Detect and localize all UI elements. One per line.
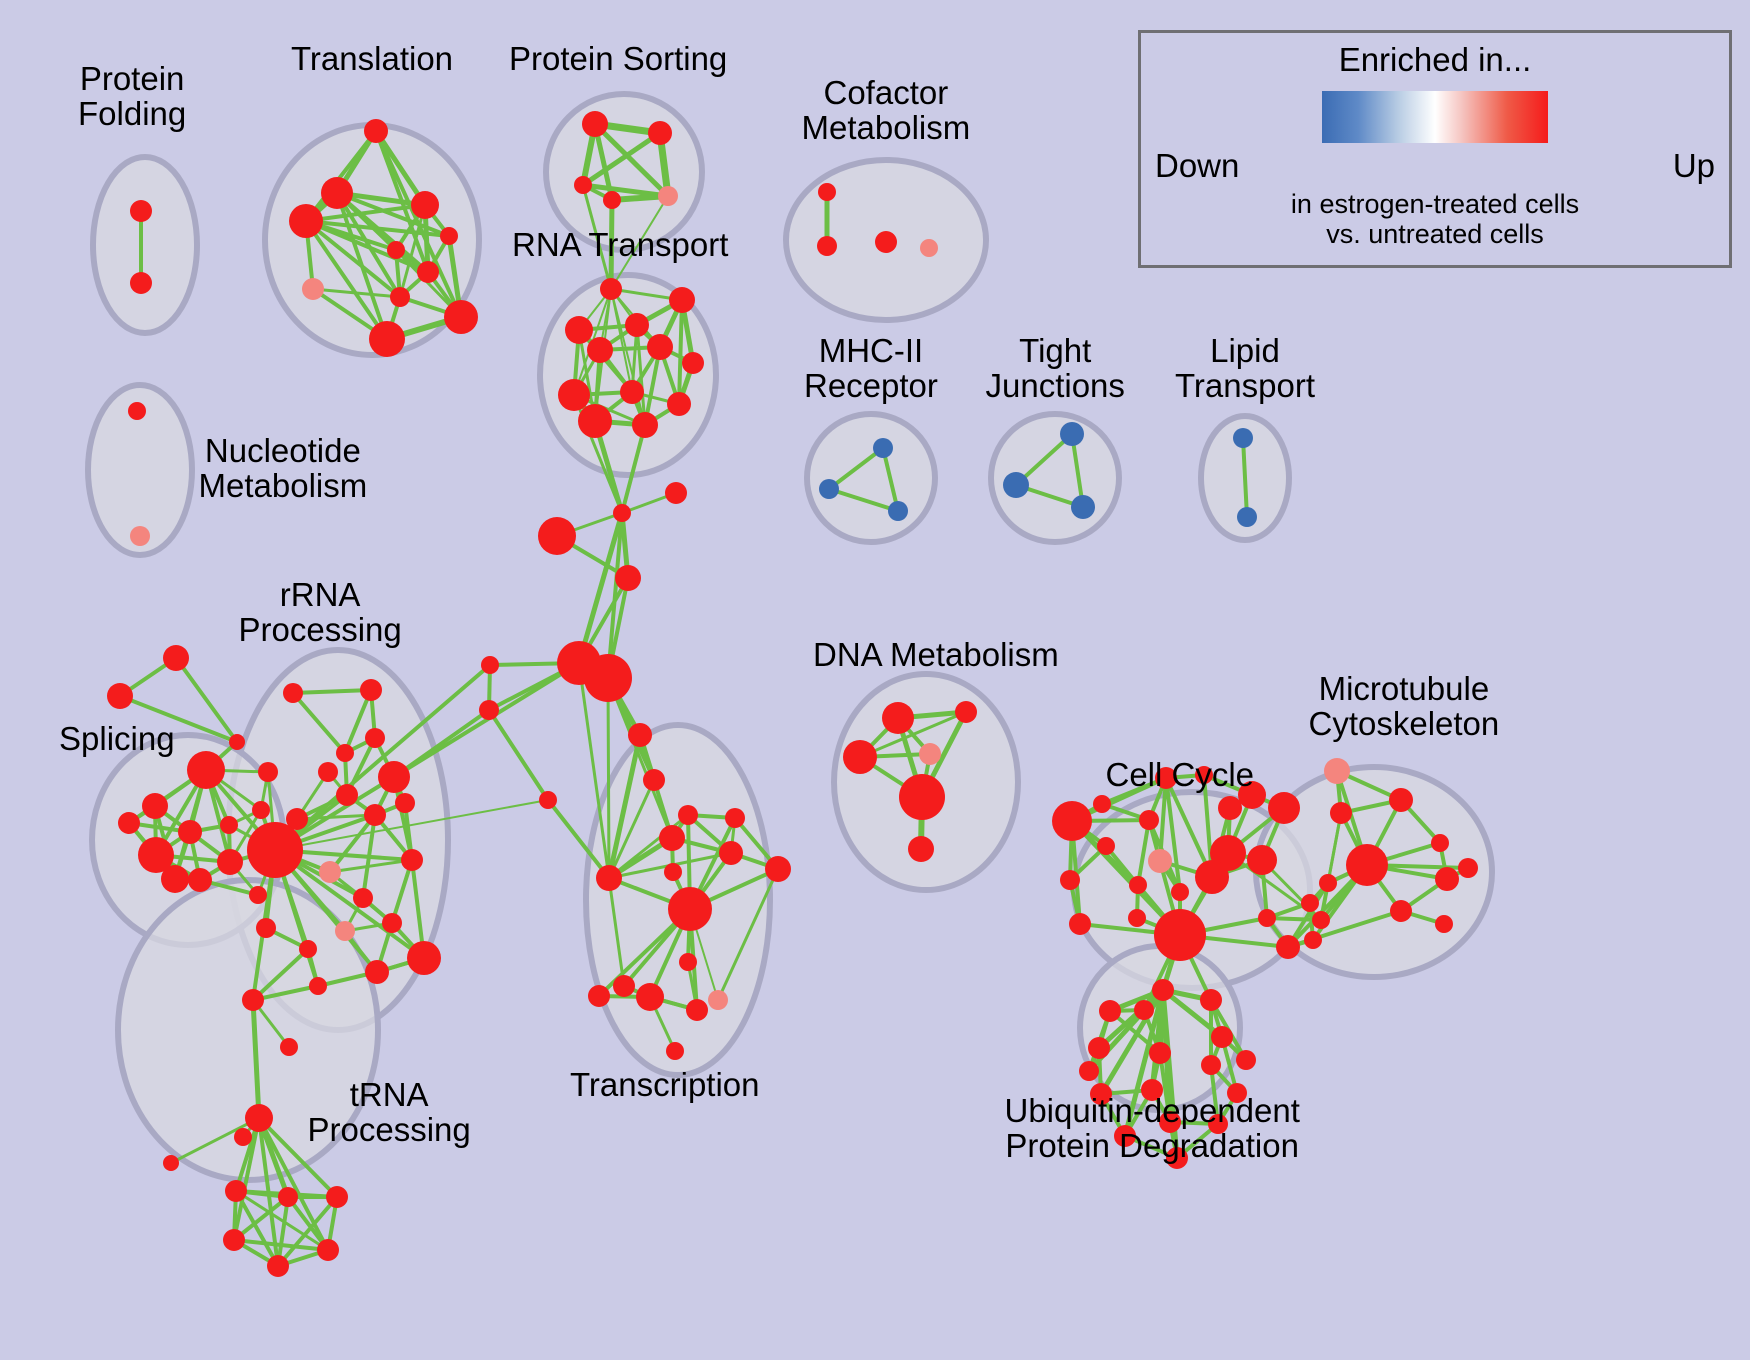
network-node[interactable]: [1171, 883, 1189, 901]
network-node[interactable]: [1431, 834, 1449, 852]
network-node[interactable]: [920, 239, 938, 257]
network-node[interactable]: [130, 272, 152, 294]
network-node[interactable]: [908, 836, 934, 862]
network-node[interactable]: [444, 300, 478, 334]
network-node[interactable]: [955, 701, 977, 723]
network-node[interactable]: [107, 683, 133, 709]
network-node[interactable]: [582, 111, 608, 137]
network-node[interactable]: [1093, 795, 1111, 813]
network-node[interactable]: [1149, 1042, 1171, 1064]
cluster-label: rRNA Processing: [239, 578, 402, 648]
network-node[interactable]: [613, 975, 635, 997]
network-node[interactable]: [1099, 1000, 1121, 1022]
network-node[interactable]: [1218, 796, 1242, 820]
cluster-label: Cell Cycle: [1106, 758, 1255, 793]
network-node[interactable]: [708, 990, 728, 1010]
network-node[interactable]: [1276, 935, 1300, 959]
cluster-label: Protein Folding: [78, 62, 186, 132]
network-node[interactable]: [225, 1180, 247, 1202]
network-node[interactable]: [666, 1042, 684, 1060]
network-node[interactable]: [817, 236, 837, 256]
network-node[interactable]: [1304, 931, 1322, 949]
network-node[interactable]: [223, 1229, 245, 1251]
cluster-label: Cofactor Metabolism: [802, 76, 971, 146]
network-node[interactable]: [899, 774, 945, 820]
network-node[interactable]: [1139, 810, 1159, 830]
network-node[interactable]: [1134, 1000, 1154, 1020]
network-node[interactable]: [407, 941, 441, 975]
network-node[interactable]: [1247, 845, 1277, 875]
network-node[interactable]: [188, 868, 212, 892]
legend-subtitle-line1: in estrogen-treated cells: [1141, 189, 1729, 219]
network-node[interactable]: [647, 334, 673, 360]
network-node[interactable]: [318, 762, 338, 782]
cluster-label: Ubiquitin-dependent Protein Degradation: [1005, 1094, 1300, 1164]
network-node[interactable]: [321, 177, 353, 209]
network-node[interactable]: [1258, 909, 1276, 927]
network-node[interactable]: [283, 683, 303, 703]
network-node[interactable]: [395, 793, 415, 813]
network-node[interactable]: [620, 380, 644, 404]
cluster-label: Transcription: [570, 1068, 760, 1103]
network-node[interactable]: [369, 321, 405, 357]
network-node[interactable]: [220, 816, 238, 834]
network-node[interactable]: [1148, 849, 1172, 873]
network-node[interactable]: [648, 121, 672, 145]
network-node[interactable]: [1152, 979, 1174, 1001]
network-edge: [489, 710, 548, 800]
network-node[interactable]: [364, 119, 388, 143]
network-edge: [608, 678, 609, 878]
network-node[interactable]: [142, 793, 168, 819]
network-node[interactable]: [613, 504, 631, 522]
network-node[interactable]: [278, 1187, 298, 1207]
network-node[interactable]: [682, 352, 704, 374]
network-node[interactable]: [1129, 876, 1147, 894]
cluster-label: tRNA Processing: [308, 1078, 471, 1148]
network-node[interactable]: [247, 822, 303, 878]
network-node[interactable]: [1195, 860, 1229, 894]
network-node[interactable]: [919, 743, 941, 765]
network-node[interactable]: [615, 565, 641, 591]
network-node[interactable]: [819, 479, 839, 499]
network-node[interactable]: [565, 316, 593, 344]
network-node[interactable]: [390, 287, 410, 307]
cluster-label: Splicing: [59, 722, 175, 757]
network-node[interactable]: [574, 176, 592, 194]
network-node[interactable]: [1330, 802, 1352, 824]
network-node[interactable]: [1236, 1050, 1256, 1070]
cluster-hull: [93, 157, 197, 333]
network-node[interactable]: [481, 656, 499, 674]
network-node[interactable]: [600, 278, 622, 300]
network-node[interactable]: [667, 392, 691, 416]
legend-subtitle-line2: vs. untreated cells: [1141, 219, 1729, 249]
network-node[interactable]: [217, 849, 243, 875]
network-node[interactable]: [163, 1155, 179, 1171]
network-node[interactable]: [1301, 894, 1319, 912]
network-node[interactable]: [725, 808, 745, 828]
network-node[interactable]: [360, 679, 382, 701]
network-node[interactable]: [1201, 1055, 1221, 1075]
cluster-label: Translation: [291, 42, 453, 77]
network-node[interactable]: [309, 977, 327, 995]
network-node[interactable]: [1060, 422, 1084, 446]
network-node[interactable]: [130, 526, 150, 546]
network-node[interactable]: [1319, 874, 1337, 892]
legend-low-label: Down: [1155, 147, 1239, 185]
network-node[interactable]: [178, 820, 202, 844]
network-node[interactable]: [873, 438, 893, 458]
network-node[interactable]: [187, 751, 225, 789]
network-node[interactable]: [1154, 909, 1206, 961]
network-node[interactable]: [678, 805, 698, 825]
network-node[interactable]: [229, 734, 245, 750]
network-node[interactable]: [643, 769, 665, 791]
cluster-label: Lipid Transport: [1175, 334, 1315, 404]
network-node[interactable]: [242, 989, 264, 1011]
network-node[interactable]: [1324, 758, 1350, 784]
network-node[interactable]: [1458, 858, 1478, 878]
network-node[interactable]: [603, 191, 621, 209]
network-node[interactable]: [353, 888, 373, 908]
legend-color-bar: [1322, 91, 1548, 143]
network-node[interactable]: [719, 841, 743, 865]
network-node[interactable]: [245, 1104, 273, 1132]
network-node[interactable]: [843, 740, 877, 774]
network-node[interactable]: [319, 861, 341, 883]
legend-end-labels: Down Up: [1141, 147, 1729, 185]
cluster-label: Microtubule Cytoskeleton: [1309, 672, 1500, 742]
legend-subtitle: in estrogen-treated cells vs. untreated …: [1141, 189, 1729, 257]
network-node[interactable]: [625, 313, 649, 337]
network-node[interactable]: [1346, 844, 1388, 886]
network-node[interactable]: [588, 985, 610, 1007]
network-node[interactable]: [317, 1239, 339, 1261]
network-node[interactable]: [1435, 867, 1459, 891]
network-node[interactable]: [765, 856, 791, 882]
network-node[interactable]: [679, 953, 697, 971]
cluster-hull: [807, 414, 935, 542]
network-node[interactable]: [411, 191, 439, 219]
network-node[interactable]: [1069, 913, 1091, 935]
network-node[interactable]: [258, 762, 278, 782]
network-node[interactable]: [1097, 837, 1115, 855]
cluster-label: Nucleotide Metabolism: [199, 434, 368, 504]
cluster-label: Protein Sorting: [509, 42, 727, 77]
network-node[interactable]: [664, 863, 682, 881]
network-node[interactable]: [587, 337, 613, 363]
network-node[interactable]: [336, 744, 354, 762]
network-node[interactable]: [289, 204, 323, 238]
network-node[interactable]: [1389, 788, 1413, 812]
network-node[interactable]: [658, 186, 678, 206]
network-node[interactable]: [1079, 1061, 1099, 1081]
network-node[interactable]: [1312, 911, 1330, 929]
network-node[interactable]: [1200, 989, 1222, 1011]
network-node[interactable]: [668, 887, 712, 931]
network-node[interactable]: [387, 241, 405, 259]
network-node[interactable]: [1060, 870, 1080, 890]
network-node[interactable]: [336, 784, 358, 806]
network-node[interactable]: [558, 379, 590, 411]
network-node[interactable]: [538, 517, 576, 555]
network-node[interactable]: [378, 761, 410, 793]
network-node[interactable]: [234, 1128, 252, 1146]
network-node[interactable]: [665, 482, 687, 504]
network-node[interactable]: [596, 865, 622, 891]
legend-title: Enriched in...: [1141, 41, 1729, 79]
network-node[interactable]: [130, 200, 152, 222]
network-node[interactable]: [365, 728, 385, 748]
network-node[interactable]: [888, 501, 908, 521]
network-node[interactable]: [267, 1255, 289, 1277]
network-node[interactable]: [1052, 801, 1092, 841]
network-node[interactable]: [364, 804, 386, 826]
network-node[interactable]: [818, 183, 836, 201]
network-node[interactable]: [628, 723, 652, 747]
network-node[interactable]: [1088, 1037, 1110, 1059]
network-node[interactable]: [479, 700, 499, 720]
network-node[interactable]: [1390, 900, 1412, 922]
network-node[interactable]: [1233, 428, 1253, 448]
network-node[interactable]: [1003, 472, 1029, 498]
network-node[interactable]: [669, 287, 695, 313]
network-node[interactable]: [299, 940, 317, 958]
network-node[interactable]: [365, 960, 389, 984]
network-node[interactable]: [280, 1038, 298, 1056]
network-node[interactable]: [882, 702, 914, 734]
network-node[interactable]: [252, 801, 270, 819]
network-node[interactable]: [584, 654, 632, 702]
legend-high-label: Up: [1673, 147, 1715, 185]
network-node[interactable]: [632, 412, 658, 438]
network-node[interactable]: [401, 849, 423, 871]
network-node[interactable]: [1071, 495, 1095, 519]
network-node[interactable]: [335, 921, 355, 941]
network-node[interactable]: [417, 261, 439, 283]
network-node[interactable]: [128, 402, 146, 420]
cluster-label: MHC-II Receptor: [804, 334, 938, 404]
network-node[interactable]: [636, 983, 664, 1011]
cluster-label: Tight Junctions: [986, 334, 1125, 404]
enrichment-map-figure: Protein FoldingTranslationProtein Sortin…: [0, 0, 1750, 1360]
network-node[interactable]: [118, 812, 140, 834]
network-node[interactable]: [1128, 909, 1146, 927]
network-node[interactable]: [440, 227, 458, 245]
network-node[interactable]: [539, 791, 557, 809]
cluster-label: RNA Transport: [512, 228, 728, 263]
network-node[interactable]: [256, 918, 276, 938]
cluster-label: DNA Metabolism: [813, 638, 1059, 673]
network-node[interactable]: [163, 645, 189, 671]
network-node[interactable]: [382, 913, 402, 933]
network-node[interactable]: [326, 1186, 348, 1208]
network-node[interactable]: [686, 999, 708, 1021]
network-node[interactable]: [302, 278, 324, 300]
network-node[interactable]: [249, 886, 267, 904]
network-node[interactable]: [659, 825, 685, 851]
network-node[interactable]: [1435, 915, 1453, 933]
legend-panel: Enriched in... Down Up in estrogen-treat…: [1138, 30, 1732, 268]
network-node[interactable]: [1211, 1026, 1233, 1048]
network-node[interactable]: [875, 231, 897, 253]
network-node[interactable]: [1237, 507, 1257, 527]
network-node[interactable]: [138, 837, 174, 873]
network-node[interactable]: [578, 404, 612, 438]
network-node[interactable]: [1268, 792, 1300, 824]
